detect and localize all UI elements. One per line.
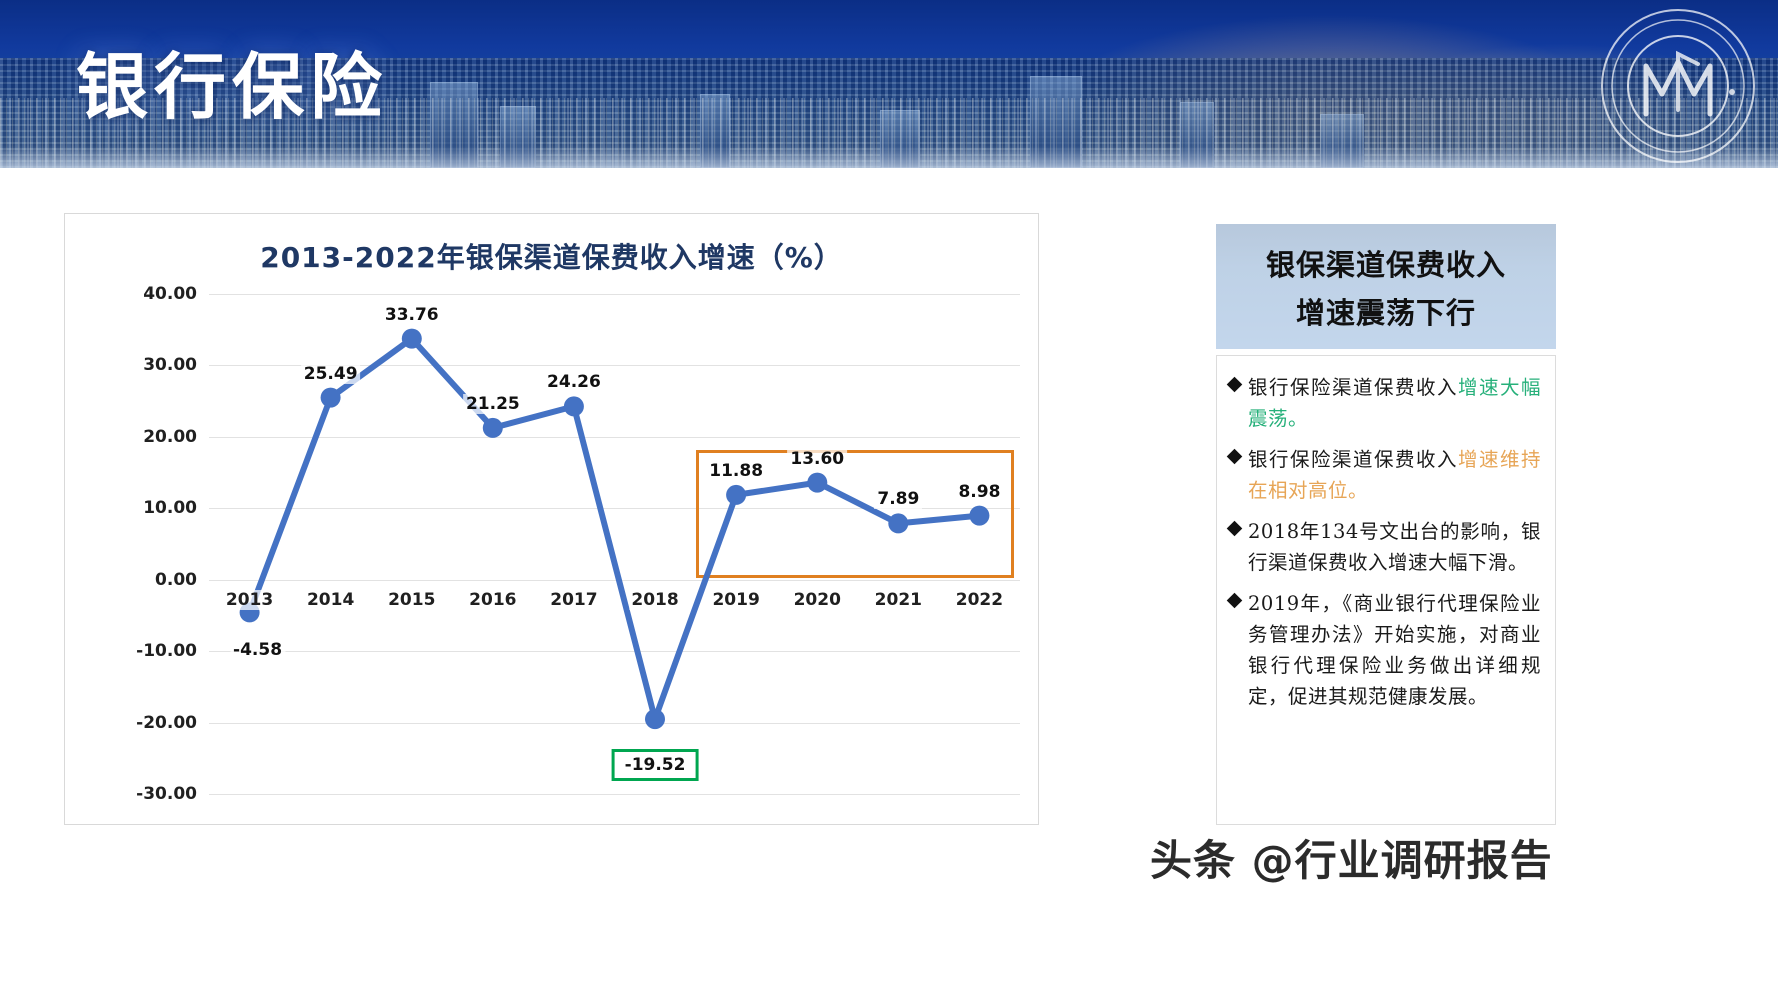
chart-x-axis-tick: 2017 bbox=[548, 590, 599, 610]
right-panel-header: 银保渠道保费收入 增速震荡下行 bbox=[1216, 224, 1556, 349]
chart-data-label: 33.76 bbox=[382, 305, 442, 325]
bullet-text: 银行保险渠道保费收入增速大幅震荡。 bbox=[1248, 372, 1541, 434]
slide-root: 银行保险 2013-2022年银保渠道保费收入增速（%） 40.0030.002… bbox=[0, 0, 1778, 1000]
chart-data-label: 8.98 bbox=[955, 482, 1003, 502]
chart-data-point-marker bbox=[888, 513, 908, 533]
bullet-text: 银行保险渠道保费收入增速维持在相对高位。 bbox=[1248, 444, 1541, 506]
chart-data-point-marker bbox=[402, 329, 422, 349]
header-banner: 银行保险 bbox=[0, 0, 1778, 168]
chart-data-point-marker bbox=[483, 418, 503, 438]
chart-x-axis-tick: 2019 bbox=[710, 590, 761, 610]
organization-logo-icon bbox=[1598, 6, 1758, 166]
chart-x-axis-tick: 2020 bbox=[792, 590, 843, 610]
bullet-item: 2018年134号文出台的影响，银行渠道保费收入增速大幅下滑。 bbox=[1229, 516, 1541, 578]
chart-data-point-marker bbox=[321, 388, 341, 408]
banner-bottom-glow bbox=[0, 146, 1778, 168]
bullet-text: 2018年134号文出台的影响，银行渠道保费收入增速大幅下滑。 bbox=[1248, 516, 1541, 578]
bullet-text: 2019年，《商业银行代理保险业务管理办法》开始实施，对商业银行代理保险业务做出… bbox=[1248, 588, 1541, 712]
chart-series-line bbox=[65, 214, 1040, 826]
bullet-text-segment: 银行保险渠道保费收入 bbox=[1248, 376, 1458, 399]
diamond-bullet-icon bbox=[1227, 521, 1243, 537]
chart-x-axis-tick: 2013 bbox=[224, 590, 275, 610]
chart-x-axis-tick: 2015 bbox=[386, 590, 437, 610]
bullet-text-segment: 银行保险渠道保费收入 bbox=[1248, 448, 1458, 471]
chart-data-label: -4.58 bbox=[230, 640, 285, 660]
chart-card: 2013-2022年银保渠道保费收入增速（%） 40.0030.0020.001… bbox=[64, 213, 1039, 825]
right-panel-heading-line1: 银保渠道保费收入 bbox=[1266, 242, 1506, 284]
chart-x-axis-tick: 2022 bbox=[954, 590, 1005, 610]
chart-data-label: 7.89 bbox=[874, 489, 922, 509]
chart-data-label: 24.26 bbox=[544, 372, 604, 392]
page-title: 银行保险 bbox=[76, 28, 388, 133]
chart-data-label: -19.52 bbox=[612, 749, 699, 781]
watermark-text: 头条 @行业调研报告 bbox=[1150, 827, 1553, 888]
chart-data-point-marker bbox=[564, 396, 584, 416]
chart-data-label: 11.88 bbox=[706, 461, 766, 481]
chart-data-label: 21.25 bbox=[463, 394, 523, 414]
bullet-item: 银行保险渠道保费收入增速大幅震荡。 bbox=[1229, 372, 1541, 434]
chart-data-point-marker bbox=[726, 485, 746, 505]
diamond-bullet-icon bbox=[1227, 377, 1243, 393]
chart-data-point-marker bbox=[807, 473, 827, 493]
chart-data-point-marker bbox=[645, 709, 665, 729]
bullet-item: 银行保险渠道保费收入增速维持在相对高位。 bbox=[1229, 444, 1541, 506]
right-panel-heading-line2: 增速震荡下行 bbox=[1296, 290, 1476, 332]
chart-x-axis-tick: 2016 bbox=[467, 590, 518, 610]
diamond-bullet-icon bbox=[1227, 449, 1243, 465]
chart-data-label: 25.49 bbox=[301, 364, 361, 384]
diamond-bullet-icon bbox=[1227, 593, 1243, 609]
chart-x-axis-tick: 2018 bbox=[629, 590, 680, 610]
right-panel-bullet-list: 银行保险渠道保费收入增速大幅震荡。银行保险渠道保费收入增速维持在相对高位。201… bbox=[1216, 355, 1556, 825]
chart-x-axis-tick: 2021 bbox=[873, 590, 924, 610]
bullet-text-segment: 2018年134号文出台的影响，银行渠道保费收入增速大幅下滑。 bbox=[1248, 520, 1541, 574]
chart-data-point-marker bbox=[969, 506, 989, 526]
bullet-item: 2019年，《商业银行代理保险业务管理办法》开始实施，对商业银行代理保险业务做出… bbox=[1229, 588, 1541, 712]
chart-x-axis-tick: 2014 bbox=[305, 590, 356, 610]
bullet-text-segment: 2019年，《商业银行代理保险业务管理办法》开始实施，对商业银行代理保险业务做出… bbox=[1248, 592, 1541, 708]
chart-data-label: 13.60 bbox=[787, 449, 847, 469]
line-chart-plot-area: 40.0030.0020.0010.000.00-10.00-20.00-30.… bbox=[65, 214, 1040, 826]
